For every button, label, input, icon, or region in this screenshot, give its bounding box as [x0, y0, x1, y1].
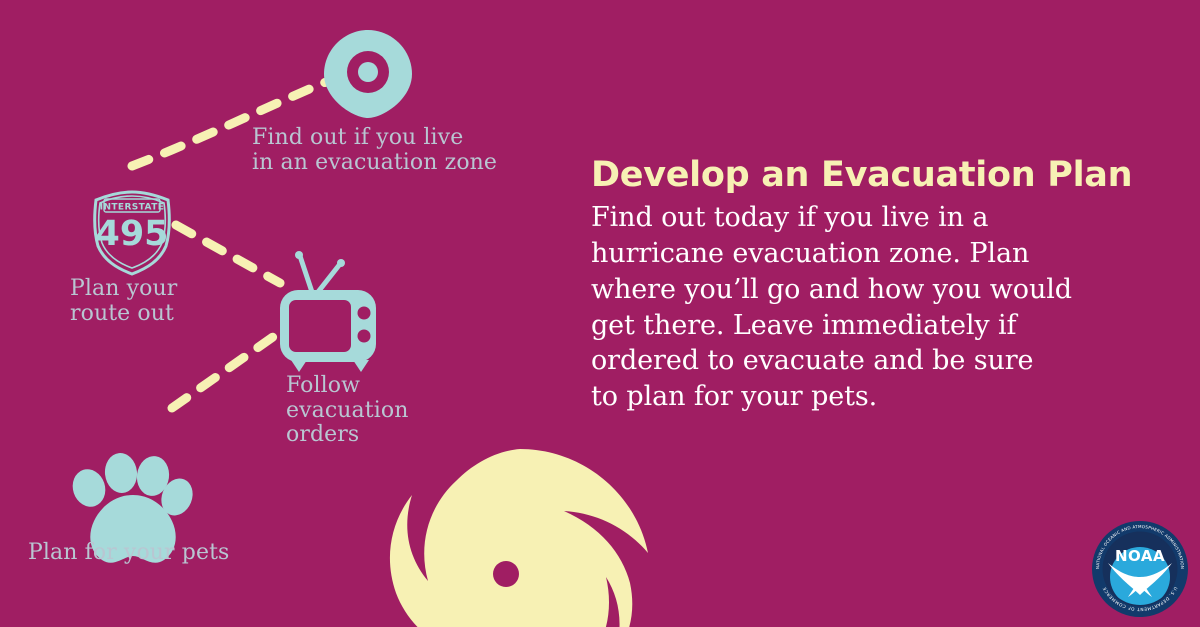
poster-headline: Develop an Evacuation Plan: [591, 157, 1151, 195]
television-icon: [280, 251, 376, 372]
infographic-poster: INTERSTATE 495 Find ou: [0, 0, 1200, 627]
message-block: Develop an Evacuation Plan Find out toda…: [591, 157, 1151, 415]
map-pin-icon: [324, 30, 412, 118]
connector-shield-to-tv: [176, 225, 280, 283]
shield-number-text: 495: [95, 214, 168, 254]
label-plan-pets: Plan for your pets: [28, 541, 229, 566]
poster-body-text: Find out today if you live in a hurrican…: [591, 200, 1151, 415]
label-follow-orders: Follow evacuation orders: [286, 374, 408, 448]
connector-paw-to-tv: [172, 332, 280, 408]
interstate-shield-icon: INTERSTATE 495: [95, 192, 170, 274]
shield-banner-text: INTERSTATE: [100, 203, 165, 213]
label-plan-route: Plan your route out: [70, 277, 177, 326]
noaa-seal: NOAA NATIONAL OCEANIC AND ATMOSPHERIC AD…: [1088, 517, 1192, 621]
noaa-acronym: NOAA: [1115, 547, 1165, 565]
label-evacuation-zone: Find out if you live in an evacuation zo…: [252, 126, 497, 175]
